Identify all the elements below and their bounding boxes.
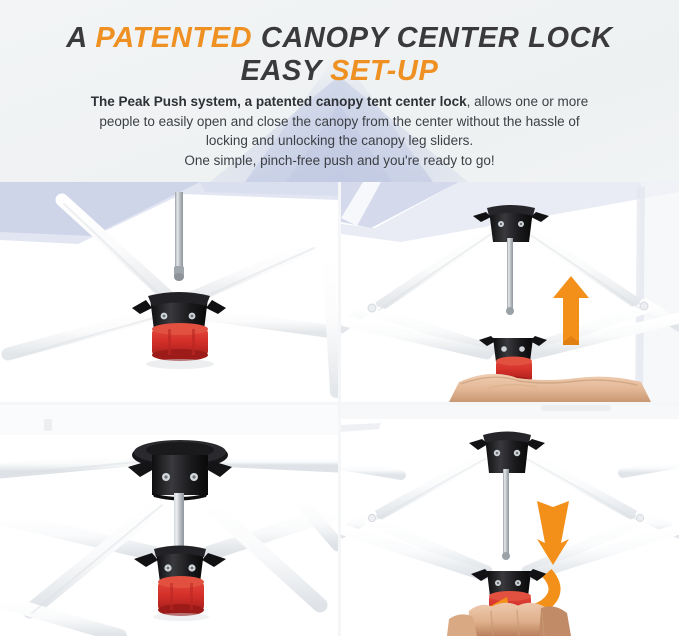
panel-bottom-right (341, 405, 679, 636)
hub-red-collar (158, 576, 204, 616)
description-line-2: people to easily open and close the cano… (0, 112, 679, 132)
push-pole (506, 238, 514, 315)
title-text-a: A (66, 22, 95, 54)
photo-grid (0, 182, 679, 636)
title-highlight-setup: SET-UP (330, 55, 438, 87)
description-line-4: One simple, pinch-free push and you're r… (0, 151, 679, 171)
title-line-1: A PATENTED CANOPY CENTER LOCK (0, 22, 679, 55)
description-line-1-rest: , allows one or more (467, 94, 589, 109)
title-highlight-patented: PATENTED (95, 22, 252, 54)
title-text-canopy-center-lock: CANOPY CENTER LOCK (252, 22, 613, 54)
push-pole (174, 192, 184, 281)
header-section: A PATENTED CANOPY CENTER LOCK EASY SET-U… (0, 0, 679, 182)
description-paragraph: The Peak Push system, a patented canopy … (0, 92, 679, 170)
description-line-1: The Peak Push system, a patented canopy … (0, 92, 679, 112)
hub-red-collar (152, 323, 208, 361)
description-bold-phrase: The Peak Push system, a patented canopy … (91, 94, 467, 109)
infographic-page: A PATENTED CANOPY CENTER LOCK EASY SET-U… (0, 0, 679, 636)
title-line-2: EASY SET-UP (0, 55, 679, 88)
page-title: A PATENTED CANOPY CENTER LOCK EASY SET-U… (0, 22, 679, 88)
panel-bottom-left (0, 405, 338, 636)
push-pole (502, 469, 510, 560)
description-line-3: locking and unlocking the canopy leg sli… (0, 131, 679, 151)
panel-divider-horizontal (0, 402, 679, 405)
title-text-easy: EASY (241, 55, 331, 87)
panel-divider-vertical (338, 182, 341, 636)
panel-top-right (341, 182, 679, 402)
panel-top-left (0, 182, 338, 402)
